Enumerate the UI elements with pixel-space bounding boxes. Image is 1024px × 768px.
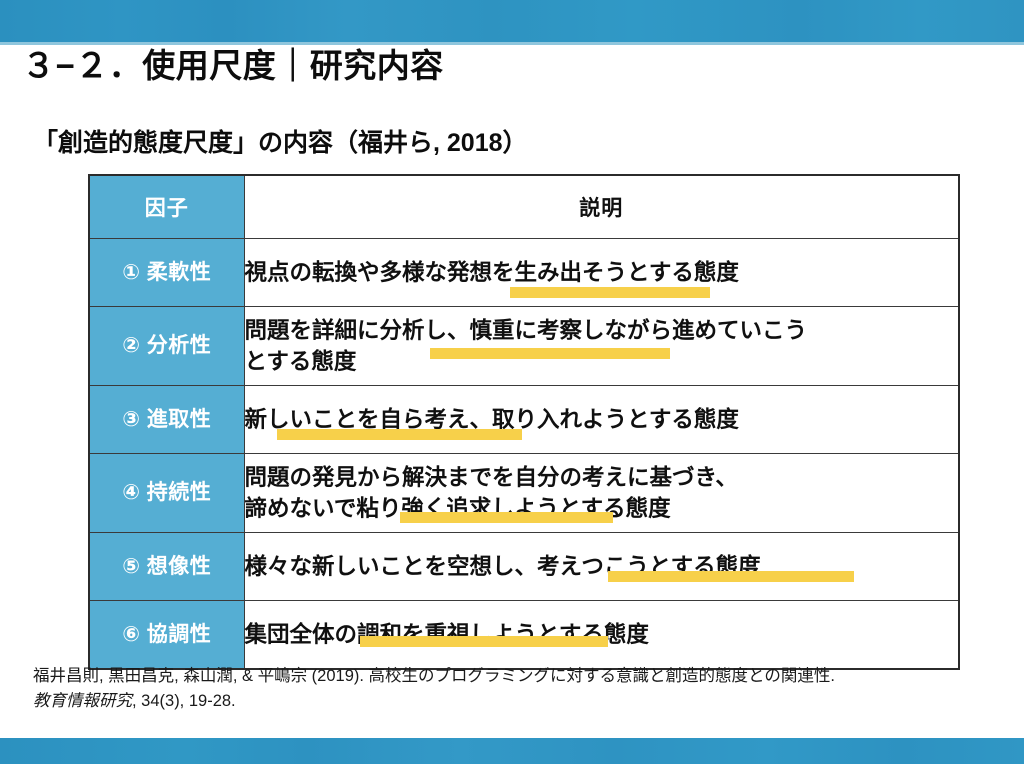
highlight-marker-4 bbox=[400, 512, 613, 523]
table-row: ⑥ 協調性 集団全体の調和を重視しようとする態度 bbox=[89, 601, 959, 670]
page-title: ３−２．使用尺度｜研究内容 bbox=[22, 46, 444, 86]
factor-cell-6: ⑥ 協調性 bbox=[89, 601, 244, 670]
description-line: 視点の転換や多様な発想を生み出そうとする態度 bbox=[245, 257, 959, 288]
creative-attitude-scale-table: 因子 説明 ① 柔軟性 視点の転換や多様な発想を生み出そうとする態度 ② 分析性 bbox=[88, 174, 960, 670]
factor-cell-4: ④ 持続性 bbox=[89, 454, 244, 533]
citation-journal: 教育情報研究 bbox=[33, 692, 132, 710]
bottom-accent-bar bbox=[0, 738, 1024, 764]
description-line: 問題の発見から解決までを自分の考えに基づき、 bbox=[245, 462, 959, 493]
table-body: ① 柔軟性 視点の転換や多様な発想を生み出そうとする態度 ② 分析性 問題を詳細… bbox=[89, 239, 959, 670]
description-cell-3: 新しいことを自ら考え、取り入れようとする態度 bbox=[244, 386, 959, 454]
factor-cell-2: ② 分析性 bbox=[89, 307, 244, 386]
highlight-marker-3 bbox=[277, 429, 522, 440]
highlight-marker-2 bbox=[430, 348, 670, 359]
description-cell-2: 問題を詳細に分析し、慎重に考察しながら進めていこう とする態度 bbox=[244, 307, 959, 386]
table-head: 因子 説明 bbox=[89, 175, 959, 239]
description-cell-6: 集団全体の調和を重視しようとする態度 bbox=[244, 601, 959, 670]
scale-table-container: 因子 説明 ① 柔軟性 視点の転換や多様な発想を生み出そうとする態度 ② 分析性 bbox=[88, 174, 958, 670]
highlight-marker-6 bbox=[360, 636, 608, 647]
section-subtitle: 「創造的態度尺度」の内容（福井ら, 2018） bbox=[33, 127, 528, 159]
factor-cell-1: ① 柔軟性 bbox=[89, 239, 244, 307]
table-row: ⑤ 想像性 様々な新しいことを空想し、考えつこうとする態度 bbox=[89, 533, 959, 601]
description-cell-5: 様々な新しいことを空想し、考えつこうとする態度 bbox=[244, 533, 959, 601]
top-accent-bar bbox=[0, 0, 1024, 42]
table-header-row: 因子 説明 bbox=[89, 175, 959, 239]
table-row: ③ 進取性 新しいことを自ら考え、取り入れようとする態度 bbox=[89, 386, 959, 454]
column-header-description: 説明 bbox=[244, 175, 959, 239]
column-header-factor: 因子 bbox=[89, 175, 244, 239]
citation-authors-title: 福井昌則, 黒田昌克, 森山潤, & 平嶋宗 (2019). 高校生のプログラミ… bbox=[33, 667, 835, 685]
citation-volume-pages: , 34(3), 19-28. bbox=[132, 692, 236, 710]
slide-canvas: ３−２．使用尺度｜研究内容 「創造的態度尺度」の内容（福井ら, 2018） 因子… bbox=[0, 0, 1024, 768]
table-row: ② 分析性 問題を詳細に分析し、慎重に考察しながら進めていこう とする態度 bbox=[89, 307, 959, 386]
highlight-marker-1 bbox=[510, 287, 710, 298]
highlight-marker-5 bbox=[608, 571, 854, 582]
bottom-accent-underline bbox=[0, 764, 1024, 768]
factor-cell-5: ⑤ 想像性 bbox=[89, 533, 244, 601]
top-accent-underline bbox=[0, 42, 1024, 45]
citation-reference: 福井昌則, 黒田昌克, 森山潤, & 平嶋宗 (2019). 高校生のプログラミ… bbox=[33, 664, 1013, 714]
description-line: 問題を詳細に分析し、慎重に考察しながら進めていこう bbox=[245, 315, 959, 346]
factor-cell-3: ③ 進取性 bbox=[89, 386, 244, 454]
